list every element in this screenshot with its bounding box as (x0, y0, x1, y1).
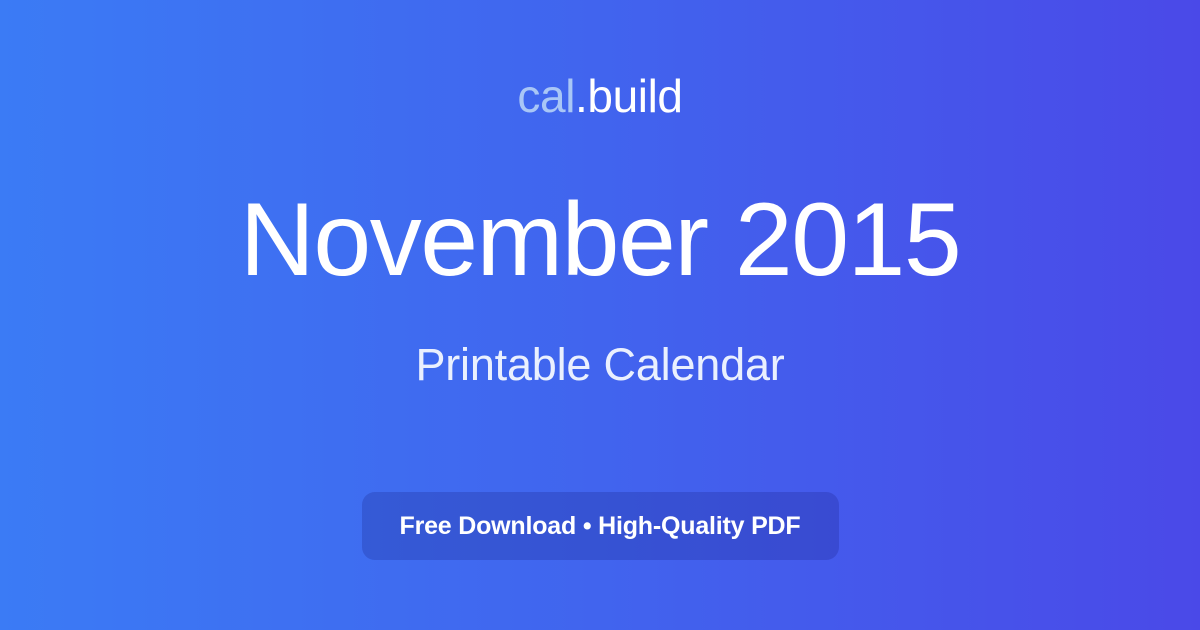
og-share-card: cal.build November 2015 Printable Calend… (0, 0, 1200, 630)
page-subtitle: Printable Calendar (0, 340, 1200, 390)
brand-logo-prefix: cal (517, 70, 575, 122)
page-title: November 2015 (0, 186, 1200, 295)
badge-container: Free Download • High-Quality PDF (0, 492, 1200, 560)
free-download-badge[interactable]: Free Download • High-Quality PDF (362, 492, 839, 560)
hero-subtitle-container: Printable Calendar (0, 340, 1200, 390)
brand-logo[interactable]: cal.build (0, 73, 1200, 119)
hero-title-container: November 2015 (0, 186, 1200, 295)
brand-logo-text: cal.build (517, 73, 682, 119)
free-download-badge-label: Free Download • High-Quality PDF (400, 514, 801, 539)
brand-logo-suffix: .build (575, 70, 683, 122)
